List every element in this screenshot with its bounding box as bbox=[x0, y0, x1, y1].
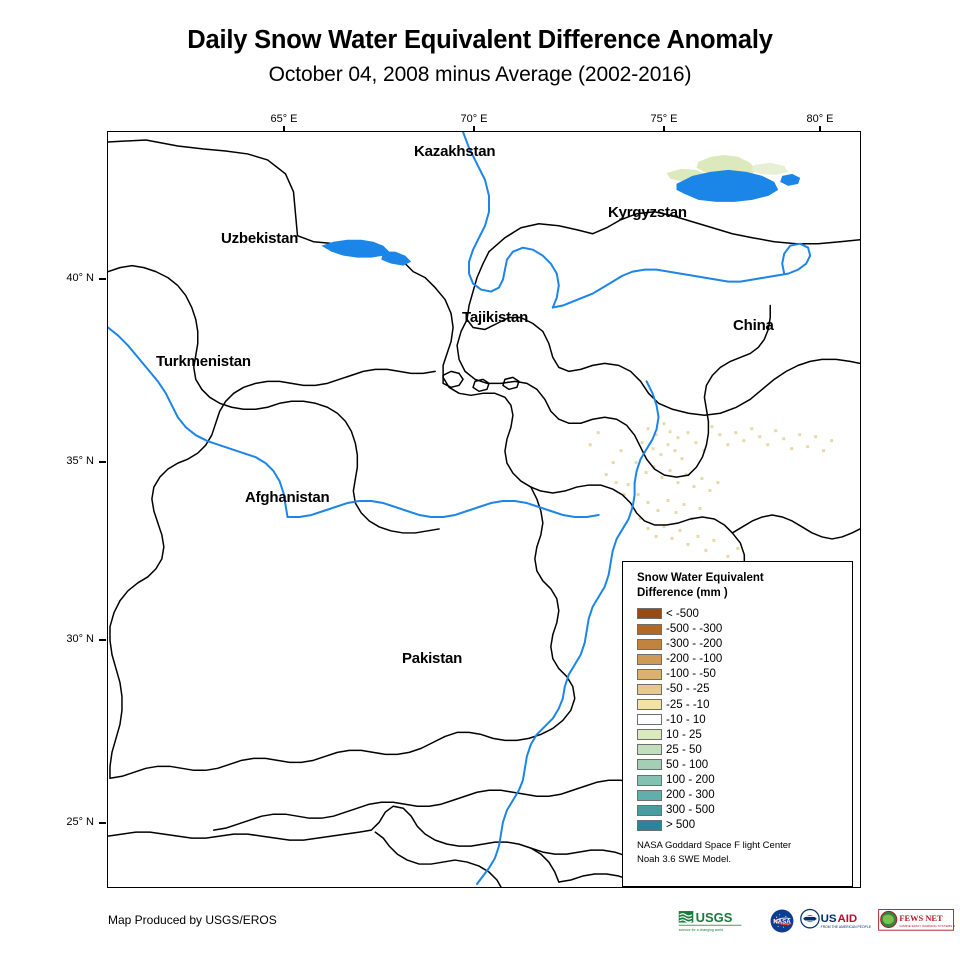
river-naryn bbox=[776, 244, 810, 276]
lat-label-30N: 30° N bbox=[54, 633, 94, 645]
country-label-china: China bbox=[733, 317, 774, 334]
lat-tick-25N bbox=[99, 822, 106, 824]
legend-swatch bbox=[637, 714, 662, 725]
legend-source-note: NASA Goddard Space F light Center Noah 3… bbox=[637, 839, 791, 866]
country-label-afghanistan: Afghanistan bbox=[245, 489, 329, 506]
legend-row: -10 - 10 bbox=[637, 712, 852, 727]
legend-title: Snow Water Equivalent Difference (mm ) bbox=[637, 571, 852, 600]
coastline-arabian-sea bbox=[108, 806, 559, 882]
usgs-tagline: science for a changing world bbox=[679, 928, 723, 932]
legend-swatch bbox=[637, 608, 662, 619]
legend-swatch bbox=[637, 805, 662, 816]
legend-row: 50 - 100 bbox=[637, 757, 852, 772]
lake-outline-1 bbox=[443, 371, 463, 387]
legend-label: 10 - 25 bbox=[666, 729, 702, 741]
lake-aral-tail bbox=[381, 252, 411, 266]
usgs-wordmark: USGS bbox=[696, 910, 733, 925]
legend-row: < -500 bbox=[637, 606, 852, 621]
legend-class-list: < -500-500 - -300-300 - -200-200 - -100-… bbox=[637, 606, 852, 832]
lon-label-65E: 65° E bbox=[254, 113, 314, 125]
legend-row: 10 - 25 bbox=[637, 727, 852, 742]
border-kazakhstan-uzbekistan bbox=[108, 140, 425, 278]
legend-swatch bbox=[637, 639, 662, 650]
usaid-logo: US AID FROM THE AMERICAN PEOPLE bbox=[800, 908, 873, 934]
country-label-uzbekistan: Uzbekistan bbox=[221, 230, 298, 247]
lat-label-25N: 25° N bbox=[54, 816, 94, 828]
border-india-north bbox=[732, 515, 860, 539]
legend-row: -300 - -200 bbox=[637, 637, 852, 652]
border-afghanistan-west bbox=[110, 369, 435, 778]
lat-tick-30N bbox=[99, 639, 106, 641]
legend-row: -500 - -300 bbox=[637, 622, 852, 637]
country-label-tajikistan: Tajikistan bbox=[462, 309, 528, 326]
legend-swatch bbox=[637, 820, 662, 831]
legend-label: -25 - -10 bbox=[666, 699, 709, 711]
country-label-kazakhstan: Kazakhstan bbox=[414, 143, 495, 160]
border-afghanistan-pakistan bbox=[110, 487, 575, 778]
lon-label-75E: 75° E bbox=[634, 113, 694, 125]
logo-bar: USGS science for a changing world NASA U… bbox=[678, 906, 955, 936]
country-label-pakistan: Pakistan bbox=[402, 650, 462, 667]
legend-swatch bbox=[637, 744, 662, 755]
lat-tick-40N bbox=[99, 278, 106, 280]
legend-label: -500 - -300 bbox=[666, 623, 722, 635]
legend-row: -25 - -10 bbox=[637, 697, 852, 712]
map-page: Daily Snow Water Equivalent Difference A… bbox=[0, 0, 960, 960]
lake-aral-remnant bbox=[321, 240, 389, 258]
legend-label: -200 - -100 bbox=[666, 653, 722, 665]
page-title: Daily Snow Water Equivalent Difference A… bbox=[0, 26, 960, 54]
country-label-kyrgyzstan: Kyrgyzstan bbox=[608, 204, 687, 221]
river-panj bbox=[288, 501, 599, 517]
fews-net-tagline: FAMINE EARLY WARNING SYSTEMS NETWORK bbox=[899, 924, 954, 928]
fews-net-wordmark: FEWS NET bbox=[899, 914, 943, 923]
legend-row: 100 - 200 bbox=[637, 772, 852, 787]
legend-row: > 500 bbox=[637, 818, 852, 833]
lat-tick-35N bbox=[99, 461, 106, 463]
legend-label: 200 - 300 bbox=[666, 789, 715, 801]
usgs-wave-mark bbox=[679, 911, 694, 922]
legend-label: 50 - 100 bbox=[666, 759, 708, 771]
page-subtitle: October 04, 2008 minus Average (2002-201… bbox=[0, 63, 960, 87]
usaid-wordmark-aid: AID bbox=[837, 913, 857, 925]
river-ferghana bbox=[553, 270, 776, 308]
legend-label: 100 - 200 bbox=[666, 774, 715, 786]
legend-label: 300 - 500 bbox=[666, 804, 715, 816]
legend-label: -100 - -50 bbox=[666, 668, 716, 680]
legend-label: > 500 bbox=[666, 819, 695, 831]
legend-swatch bbox=[637, 729, 662, 740]
lake-small-east bbox=[780, 174, 800, 186]
legend-label: < -500 bbox=[666, 608, 699, 620]
legend-label: -10 - 10 bbox=[666, 714, 706, 726]
fews-net-logo: FEWS NET FAMINE EARLY WARNING SYSTEMS NE… bbox=[878, 908, 954, 934]
legend-row: -200 - -100 bbox=[637, 652, 852, 667]
legend-panel: Snow Water Equivalent Difference (mm ) <… bbox=[622, 561, 853, 887]
legend-swatch bbox=[637, 699, 662, 710]
legend-swatch bbox=[637, 624, 662, 635]
legend-swatch bbox=[637, 684, 662, 695]
country-label-turkmenistan: Turkmenistan bbox=[156, 353, 251, 370]
legend-label: 25 - 50 bbox=[666, 744, 702, 756]
anomaly-scatter-karakoram bbox=[589, 422, 833, 576]
legend-row: 25 - 50 bbox=[637, 742, 852, 757]
lon-label-70E: 70° E bbox=[444, 113, 504, 125]
anomaly-patch-tienshan-3 bbox=[751, 163, 788, 175]
legend-swatch bbox=[637, 790, 662, 801]
usgs-logo: USGS science for a changing world bbox=[678, 908, 764, 934]
usaid-tagline: FROM THE AMERICAN PEOPLE bbox=[820, 925, 871, 929]
legend-swatch bbox=[637, 759, 662, 770]
legend-swatch bbox=[637, 654, 662, 665]
legend-row: 200 - 300 bbox=[637, 788, 852, 803]
title-block: Daily Snow Water Equivalent Difference A… bbox=[0, 26, 960, 87]
legend-row: 300 - 500 bbox=[637, 803, 852, 818]
nasa-wordmark: NASA bbox=[773, 918, 791, 925]
legend-swatch bbox=[637, 775, 662, 786]
lon-label-80E: 80° E bbox=[790, 113, 850, 125]
legend-label: -300 - -200 bbox=[666, 638, 722, 650]
nasa-logo: NASA bbox=[769, 908, 795, 934]
usaid-wordmark-us: US bbox=[820, 913, 836, 925]
footer-credit: Map Produced by USGS/EROS bbox=[108, 913, 277, 927]
legend-row: -50 - -25 bbox=[637, 682, 852, 697]
legend-swatch bbox=[637, 669, 662, 680]
border-kyrgyzstan-south bbox=[467, 252, 860, 416]
legend-label: -50 - -25 bbox=[666, 683, 709, 695]
lat-label-40N: 40° N bbox=[54, 272, 94, 284]
legend-row: -100 - -50 bbox=[637, 667, 852, 682]
lat-label-35N: 35° N bbox=[54, 455, 94, 467]
